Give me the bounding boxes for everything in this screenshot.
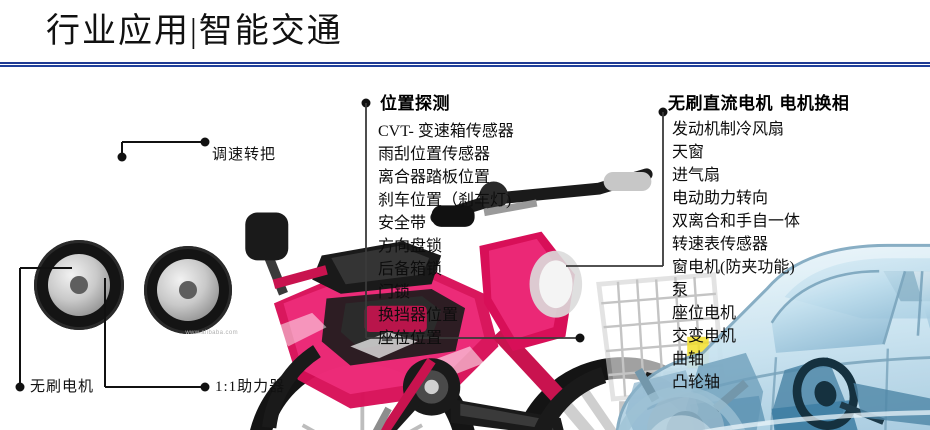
bldc-motor-item: 曲轴 bbox=[672, 348, 800, 371]
bldc-motor-item: 转速表传感器 bbox=[672, 233, 800, 256]
bldc-motor-item: 泵 bbox=[672, 279, 800, 302]
left-column-list: CVT- 变速箱传感器雨刮位置传感器离合器踏板位置刹车位置（刹车灯)安全带方向盘… bbox=[378, 120, 514, 350]
bike-rear-hub bbox=[70, 276, 88, 294]
title-divider bbox=[0, 62, 930, 67]
bike-watermark: www.alibaba.com bbox=[185, 330, 238, 336]
right-column-heading: 无刷直流电机 电机换相 bbox=[668, 94, 849, 114]
position-detection-item: 刹车位置（刹车灯) bbox=[378, 189, 514, 212]
position-detection-item: 换挡器位置 bbox=[378, 304, 514, 327]
position-detection-item: CVT- 变速箱传感器 bbox=[378, 120, 514, 143]
bldc-motor-item: 交变电机 bbox=[672, 325, 800, 348]
bldc-motor-item: 进气扇 bbox=[672, 164, 800, 187]
page-title: 行业应用|智能交通 bbox=[46, 12, 343, 52]
left-column-heading: 位置探测 bbox=[380, 94, 450, 114]
bldc-motor-item: 窗电机(防夹功能) bbox=[672, 256, 800, 279]
callout-brushless-motor: 无刷电机 bbox=[30, 378, 94, 396]
position-detection-item: 方向盘锁 bbox=[378, 235, 514, 258]
divider-line-bottom bbox=[0, 65, 930, 67]
right-column-list: 发动机制冷风扇天窗进气扇电动助力转向双离合和手自一体转速表传感器窗电机(防夹功能… bbox=[672, 118, 800, 394]
position-detection-item: 雨刮位置传感器 bbox=[378, 143, 514, 166]
bike-front-hub bbox=[179, 281, 197, 299]
position-detection-item: 座位位置 bbox=[378, 327, 514, 350]
electric-bicycle-photo: www.alibaba.com bbox=[12, 160, 242, 340]
position-detection-item: 门锁 bbox=[378, 281, 514, 304]
position-detection-item: 离合器踏板位置 bbox=[378, 166, 514, 189]
callout-throttle: 调速转把 bbox=[212, 146, 276, 164]
bldc-motor-item: 凸轮轴 bbox=[672, 371, 800, 394]
bldc-motor-item: 发动机制冷风扇 bbox=[672, 118, 800, 141]
bldc-motor-item: 天窗 bbox=[672, 141, 800, 164]
bldc-motor-item: 座位电机 bbox=[672, 302, 800, 325]
bldc-motor-item: 电动助力转向 bbox=[672, 187, 800, 210]
bldc-motor-item: 双离合和手自一体 bbox=[672, 210, 800, 233]
position-detection-item: 安全带 bbox=[378, 212, 514, 235]
slide-root: 行业应用|智能交通 bbox=[0, 0, 930, 430]
position-detection-item: 后备箱锁 bbox=[378, 258, 514, 281]
callout-pedal-assist: 1:1助力器 bbox=[215, 378, 285, 396]
